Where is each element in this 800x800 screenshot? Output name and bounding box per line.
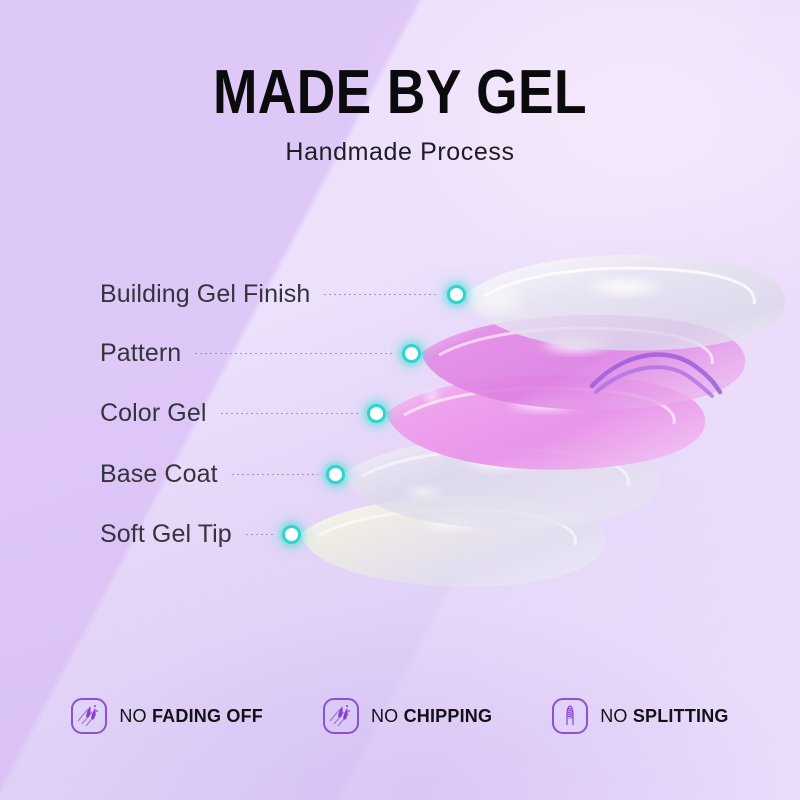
feature-badge-fading[interactable]: NO FADING OFF [71,698,263,734]
feature-lead-splitting: NO [600,706,633,726]
feature-lead-chipping: NO [371,706,404,726]
leader-line-soft-gel-tip [246,534,274,535]
layer-row-pattern[interactable]: Pattern [100,336,421,370]
layer-marker-pattern[interactable] [402,344,421,363]
leader-line-pattern [195,353,394,354]
layer-row-color-gel[interactable]: Color Gel [100,396,386,430]
feature-badge-list: NO FADING OFF NO CHIPPING [0,698,800,734]
layer-marker-building-gel-finish[interactable] [447,285,466,304]
leader-line-color-gel [221,413,360,414]
nail-polish-splash-icon [71,698,107,734]
feature-label-splitting: NO SPLITTING [600,706,728,727]
layer-marker-soft-gel-tip[interactable] [282,525,301,544]
feature-strong-fading: FADING OFF [152,706,263,726]
layer-label-color-gel: Color Gel [100,399,207,428]
layer-label-soft-gel-tip: Soft Gel Tip [100,520,232,549]
feature-strong-chipping: CHIPPING [404,706,493,726]
feature-lead-fading: NO [119,706,152,726]
feature-label-fading: NO FADING OFF [119,706,263,727]
layer-row-building-gel-finish[interactable]: Building Gel Finish [100,277,466,311]
leader-line-base-coat [232,474,318,475]
layer-label-building-gel-finish: Building Gel Finish [100,280,310,309]
layer-label-pattern: Pattern [100,339,181,368]
layer-row-soft-gel-tip[interactable]: Soft Gel Tip [100,517,301,551]
feature-strong-splitting: SPLITTING [633,706,729,726]
layer-label-list: Building Gel Finish Pattern Color Gel Ba… [0,0,800,800]
layer-marker-base-coat[interactable] [326,465,345,484]
feature-badge-chipping[interactable]: NO CHIPPING [323,698,492,734]
layer-row-base-coat[interactable]: Base Coat [100,457,345,491]
layer-marker-color-gel[interactable] [367,404,386,423]
nail-file-buffer-icon [552,698,588,734]
nail-polish-splash-icon [323,698,359,734]
layer-label-base-coat: Base Coat [100,460,218,489]
leader-line-building-gel-finish [324,294,439,295]
feature-label-chipping: NO CHIPPING [371,706,492,727]
poster-canvas: MADE BY GEL Handmade Process [0,0,800,800]
feature-badge-splitting[interactable]: NO SPLITTING [552,698,728,734]
